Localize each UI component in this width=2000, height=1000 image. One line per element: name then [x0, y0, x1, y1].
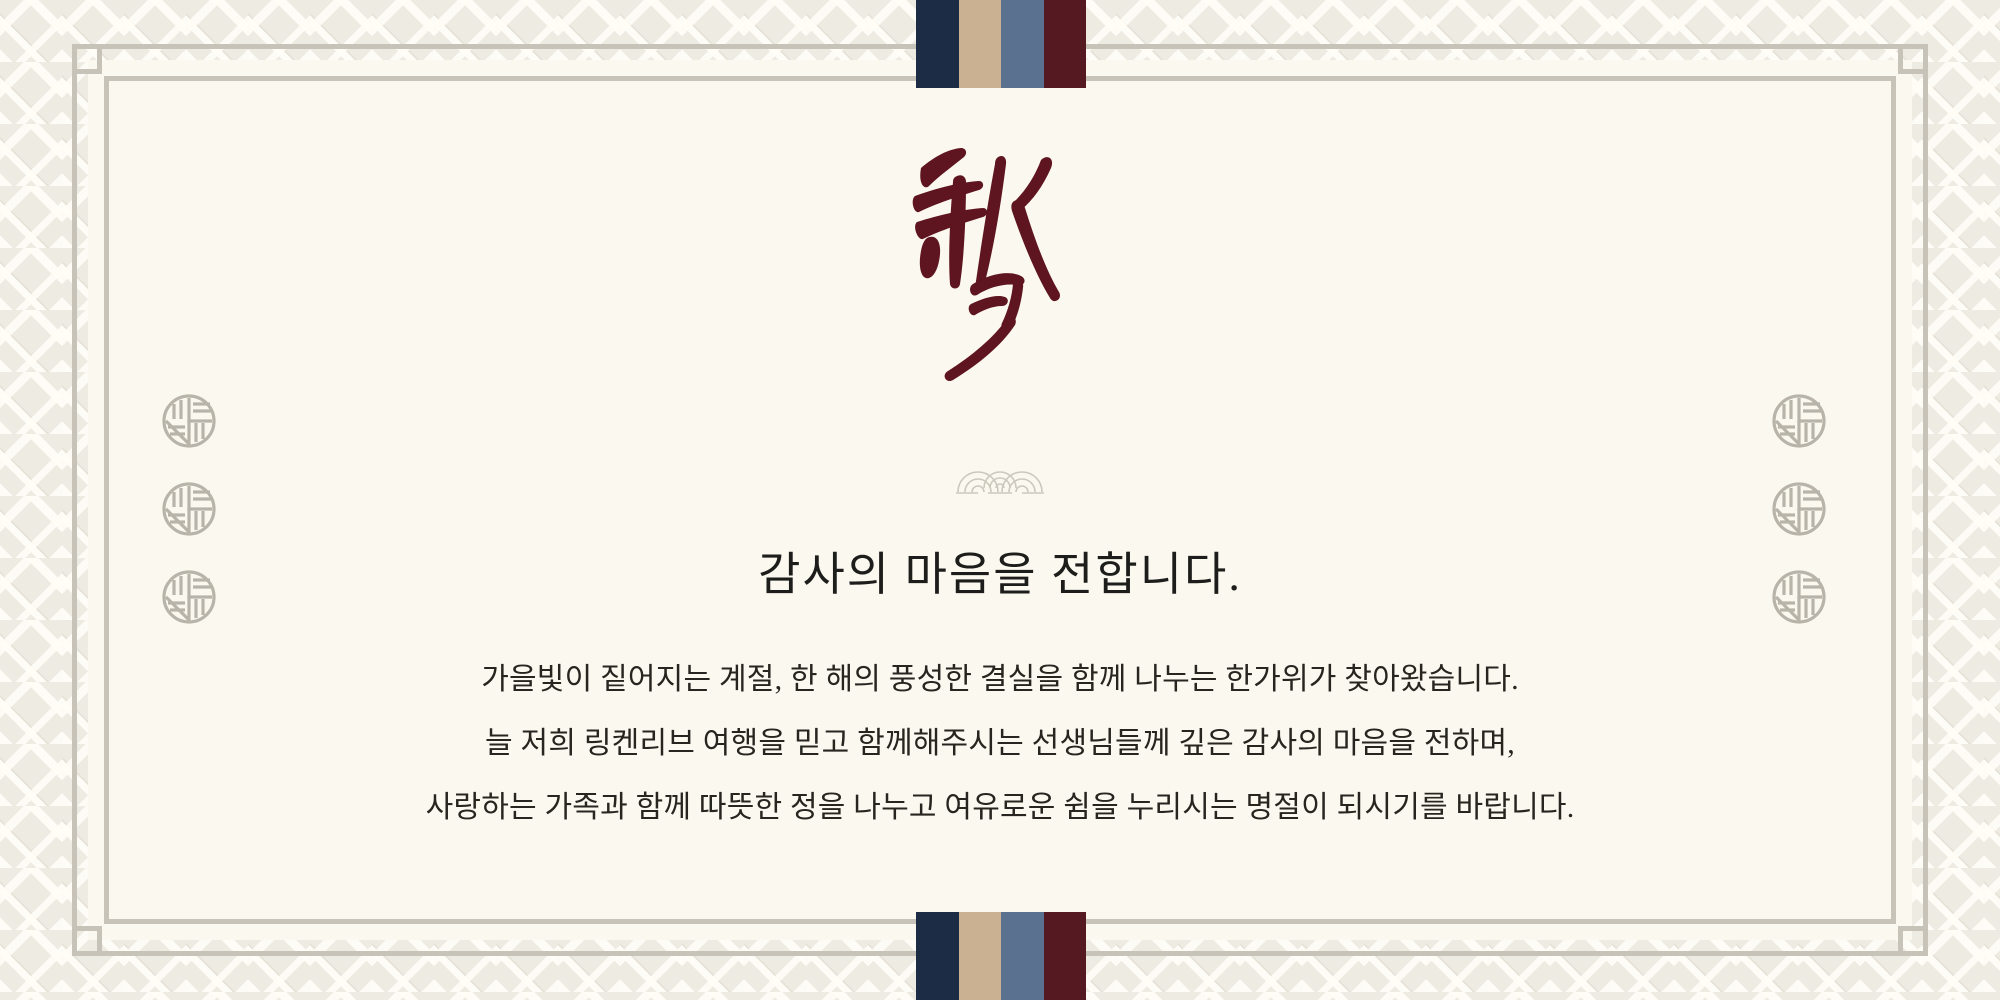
top-color-stripe-block: [916, 0, 1086, 88]
corner-bracket-bottom-left: [72, 926, 102, 956]
corner-bracket-bottom-right: [1898, 926, 1928, 956]
cloud-wave-motif-icon: [954, 438, 1046, 498]
stripe-navy: [916, 912, 959, 1000]
longevity-medallion-icon: [160, 392, 218, 450]
chuseok-calligraphy-icon: [865, 118, 1135, 398]
stripe-maroon: [1044, 0, 1087, 88]
longevity-medallion-icon: [1770, 480, 1828, 538]
stripe-blue: [1001, 0, 1044, 88]
stripe-maroon: [1044, 912, 1087, 1000]
stripe-tan: [959, 0, 1002, 88]
chuseok-greeting-card: 감사의 마음을 전합니다. 가을빛이 짙어지는 계절, 한 해의 풍성한 결실을…: [0, 0, 2000, 1000]
body-line-1: 가을빛이 짙어지는 계절, 한 해의 풍성한 결실을 함께 나누는 한가위가 찾…: [0, 648, 2000, 712]
cloud-ornament-block: [0, 438, 2000, 498]
stripe-navy: [916, 0, 959, 88]
longevity-medallion-icon: [1770, 392, 1828, 450]
body-copy-block: 가을빛이 짙어지는 계절, 한 해의 풍성한 결실을 함께 나누는 한가위가 찾…: [0, 648, 2000, 840]
corner-bracket-top-right: [1898, 44, 1928, 74]
longevity-medallion-icon: [160, 480, 218, 538]
headline-text: 감사의 마음을 전합니다.: [0, 538, 2000, 604]
stripe-blue: [1001, 912, 1044, 1000]
calligraphy-block: [0, 118, 2000, 398]
body-line-3: 사랑하는 가족과 함께 따뜻한 정을 나누고 여유로운 쉼을 누리시는 명절이 …: [0, 776, 2000, 840]
stripe-tan: [959, 912, 1002, 1000]
body-line-2: 늘 저희 링켄리브 여행을 믿고 함께해주시는 선생님들께 깊은 감사의 마음을…: [0, 712, 2000, 776]
bottom-color-stripe-block: [916, 912, 1086, 1000]
corner-bracket-top-left: [72, 44, 102, 74]
